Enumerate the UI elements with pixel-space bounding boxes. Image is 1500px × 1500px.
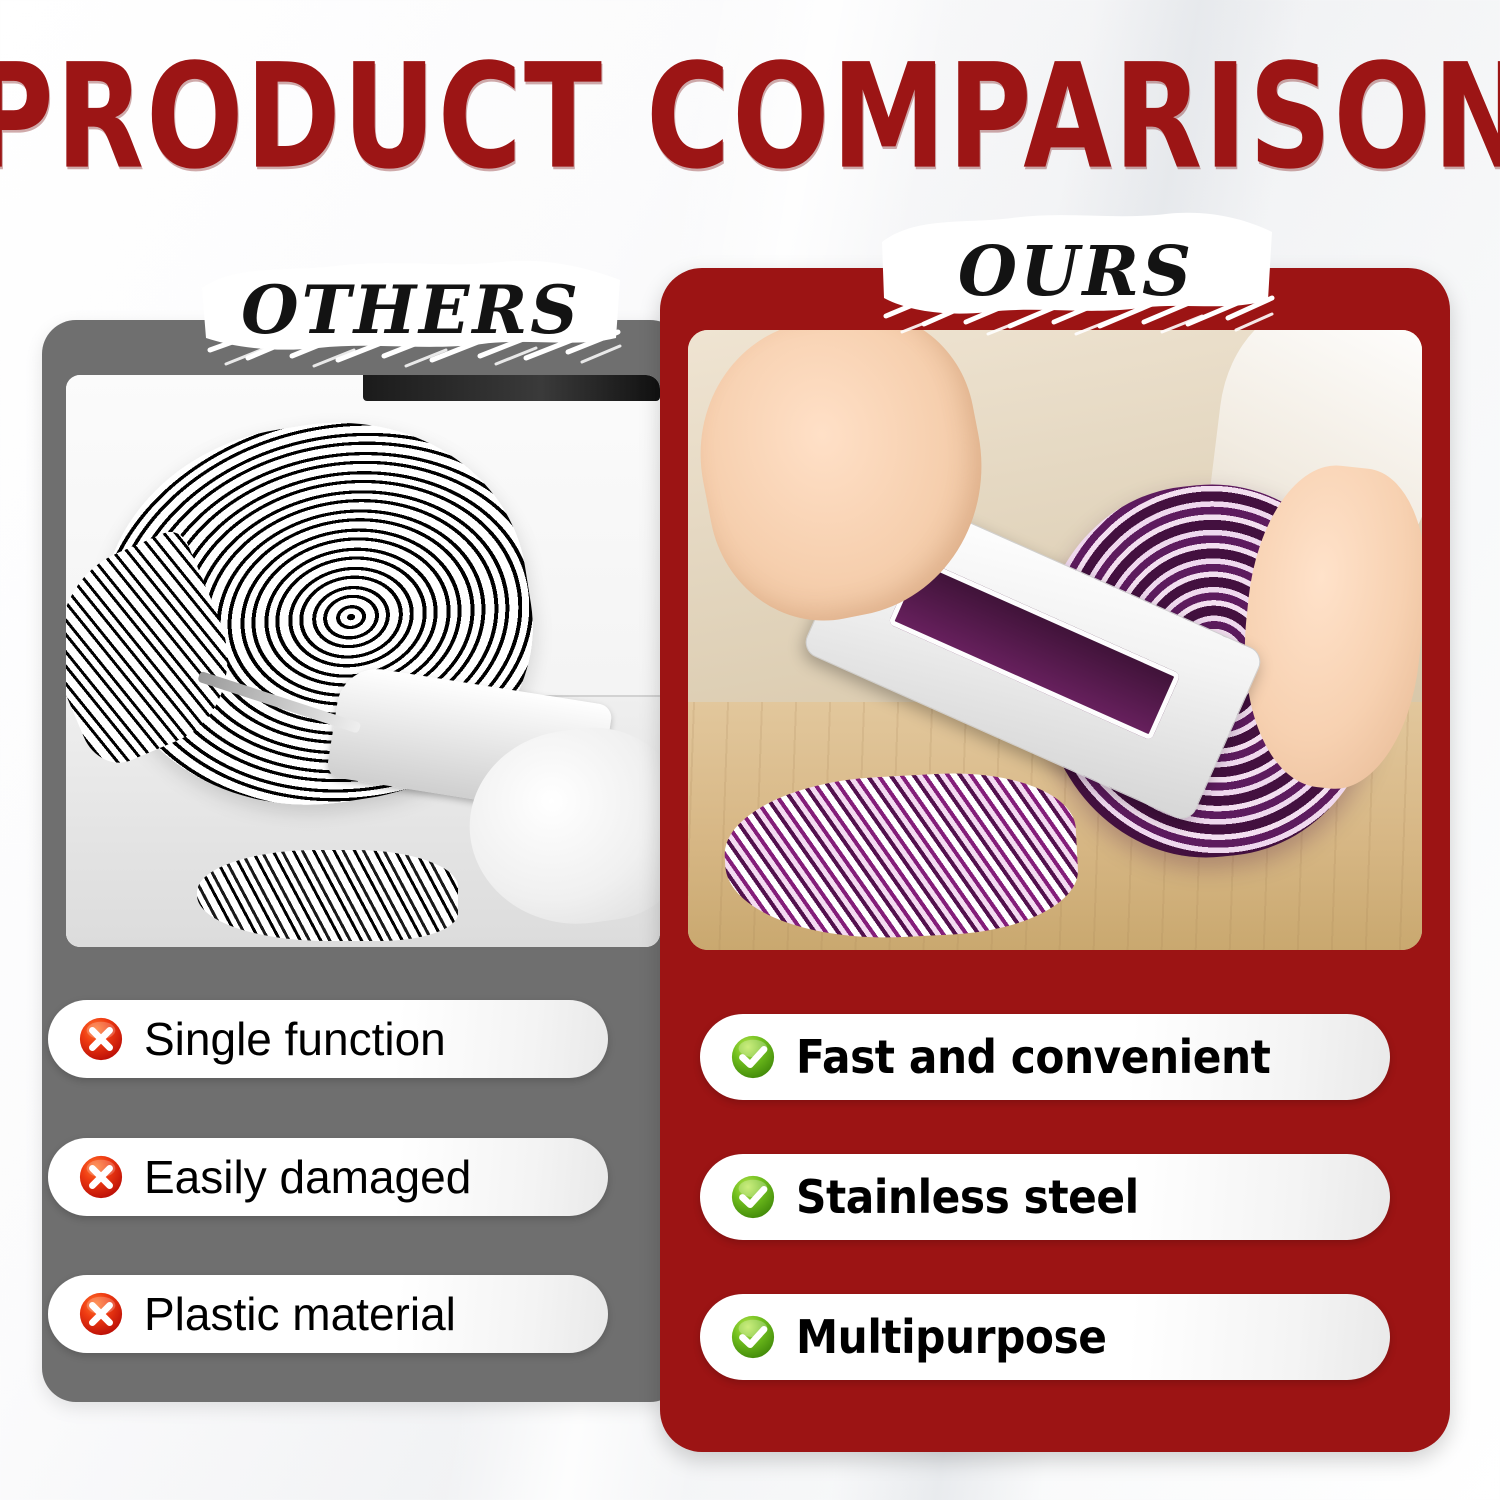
ours-feature-item: Fast and convenient [700, 1014, 1390, 1100]
others-banner: OTHERS [196, 246, 626, 374]
ours-banner-label: OURS [958, 232, 1194, 312]
others-feature-label: Single function [144, 1012, 446, 1066]
page-title: PRODUCT COMPARISON [0, 46, 1500, 154]
ours-feature-item: Multipurpose [700, 1294, 1390, 1380]
others-feature-item: Easily damaged [48, 1138, 608, 1216]
ours-feature-label: Multipurpose [796, 1310, 1107, 1364]
cross-circle-icon [78, 1291, 124, 1337]
ours-feature-label: Fast and convenient [796, 1030, 1270, 1084]
ours-scene [688, 330, 1422, 950]
others-feature-item: Plastic material [48, 1275, 608, 1353]
others-banner-label: OTHERS [241, 271, 581, 349]
page-title-text: PRODUCT COMPARISON [0, 46, 1500, 191]
ours-feature-item: Stainless steel [700, 1154, 1390, 1240]
cross-circle-icon [78, 1154, 124, 1200]
others-feature-item: Single function [48, 1000, 608, 1078]
check-circle-icon [730, 1174, 776, 1220]
others-feature-label: Easily damaged [144, 1150, 471, 1204]
others-feature-list: Single function Easily damaged Plastic m… [0, 0, 662, 1500]
check-circle-icon [730, 1034, 776, 1080]
others-feature-label: Plastic material [144, 1287, 456, 1341]
cross-circle-icon [78, 1016, 124, 1062]
ours-banner: OURS [876, 202, 1276, 342]
check-circle-icon [730, 1314, 776, 1360]
ours-feature-label: Stainless steel [796, 1170, 1139, 1224]
ours-panel: Fast and convenient Stainless steel Mult… [660, 268, 1450, 1452]
ours-product-image [688, 330, 1422, 950]
